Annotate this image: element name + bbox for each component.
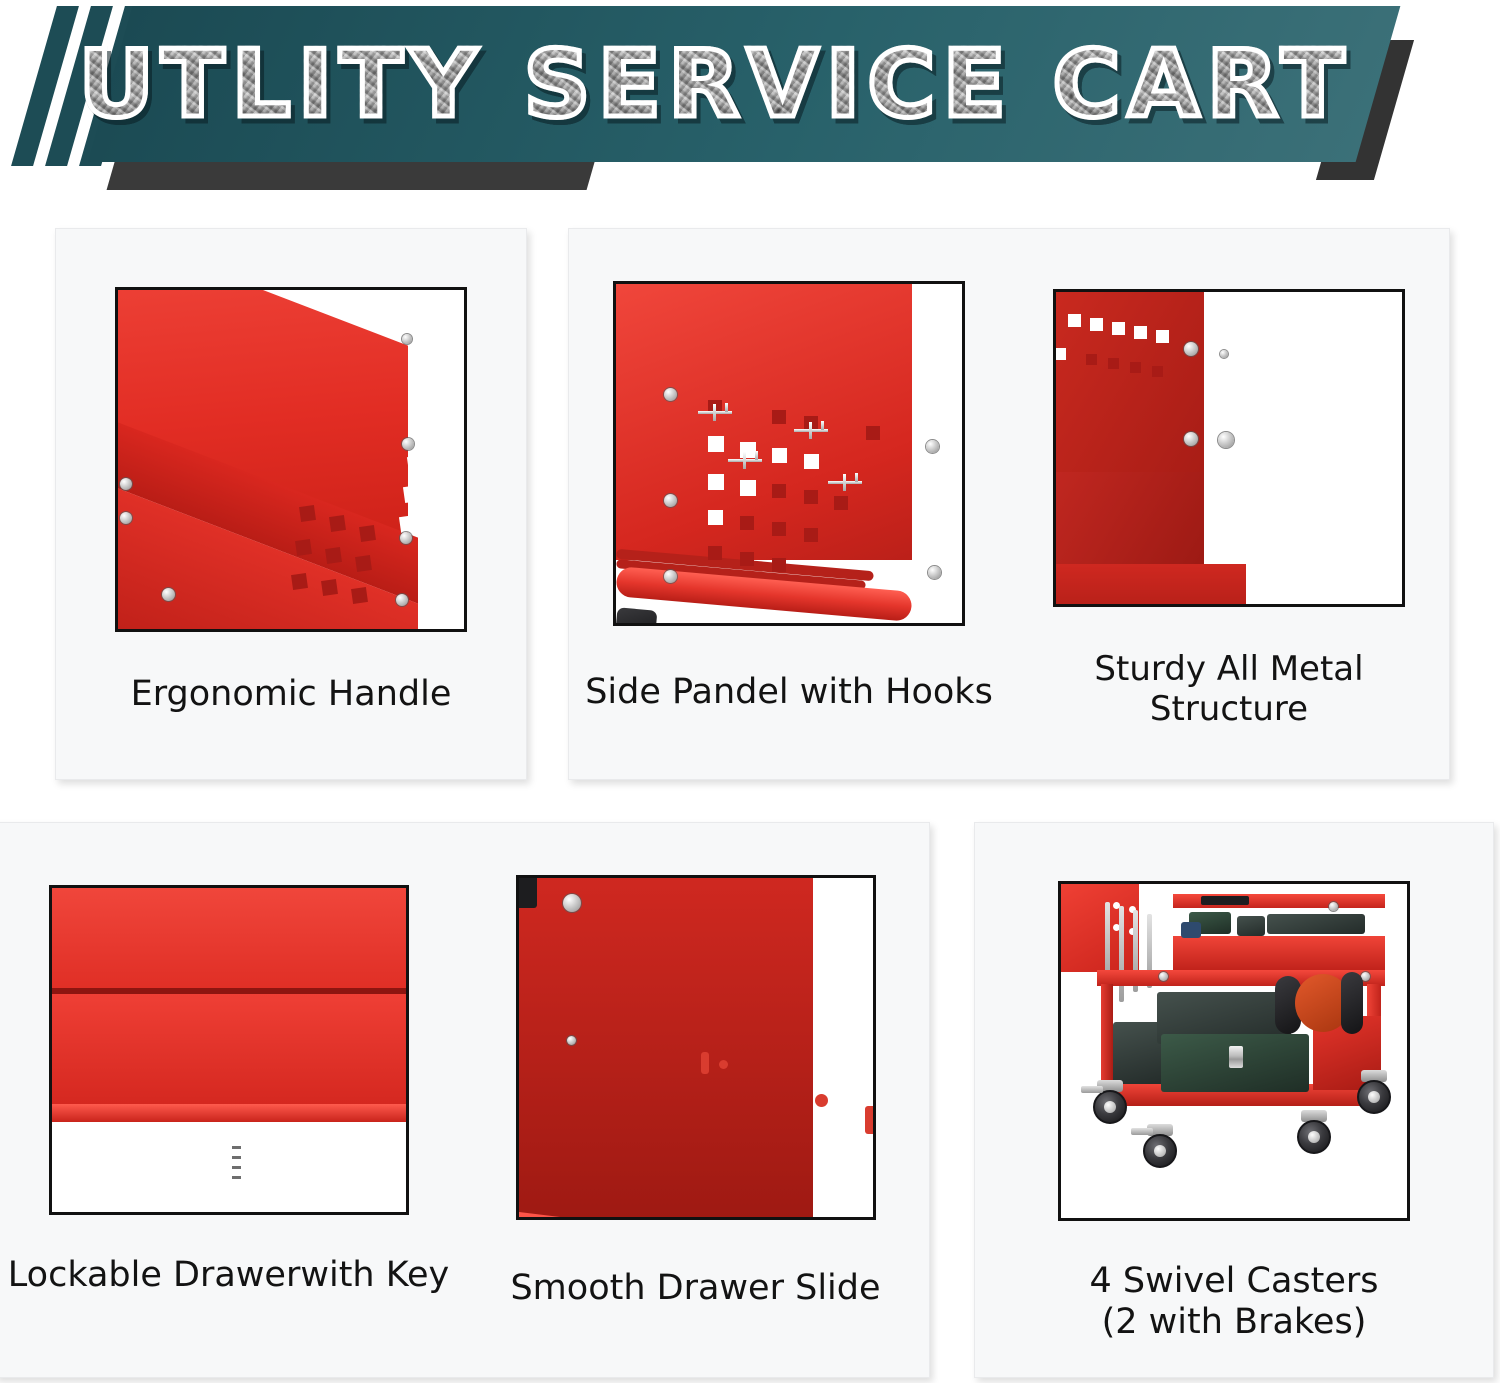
feature-caption-side-panel-hooks: Side Pandel with Hooks <box>585 672 993 713</box>
ball-bearing-drawer-slide-photo <box>516 875 876 1220</box>
feature-cell-sturdy-structure: Sturdy All Metal Structure <box>1009 229 1449 779</box>
caster-brake <box>1081 1086 1103 1093</box>
feature-caption-sturdy-structure: Sturdy All Metal Structure <box>1094 649 1363 729</box>
feature-card-ergonomic-handle: Ergonomic Handle <box>55 228 527 780</box>
pegboard-hook <box>828 472 862 492</box>
feature-cell-ergonomic-handle: Ergonomic Handle <box>56 229 526 779</box>
feature-caption-ergonomic-handle: Ergonomic Handle <box>131 674 452 715</box>
pegboard-hook <box>728 450 762 470</box>
feature-caption-lockable-drawer: Lockable Drawerwith Key <box>8 1255 449 1296</box>
cart-top-corner-with-handle-photo <box>115 287 467 632</box>
caster-brake <box>1131 1128 1153 1135</box>
feature-caption-swivel-casters: 4 Swivel Casters (2 with Brakes) <box>1089 1261 1378 1344</box>
feature-cell-lockable-drawer: Lockable Drawerwith Key <box>0 823 462 1377</box>
feature-card-swivel-casters: 4 Swivel Casters (2 with Brakes) <box>974 822 1494 1378</box>
side-pegboard-panel-with-hooks-photo <box>613 281 965 626</box>
feature-cell-side-panel-hooks: Side Pandel with Hooks <box>569 229 1009 779</box>
feature-caption-drawer-slide: Smooth Drawer Slide <box>510 1268 880 1309</box>
drawer-lock-with-keys-photo <box>49 885 409 1215</box>
hanging-wrench <box>1119 906 1124 1002</box>
feature-card-drawer-lock-and-slide: Lockable Drawerwith Key Smooth Dra <box>0 822 930 1378</box>
feature-cell-drawer-slide: Smooth Drawer Slide <box>462 823 929 1377</box>
feature-card-side-panel-and-structure: Side Pandel with Hooks <box>568 228 1450 780</box>
handle-end-cap-left <box>615 607 658 626</box>
banner-plate <box>88 6 1401 162</box>
header-banner: UTLITY SERVICE CART <box>0 0 1500 190</box>
pegboard-hook <box>698 402 732 422</box>
feature-cell-swivel-casters: 4 Swivel Casters (2 with Brakes) <box>975 823 1493 1377</box>
loaded-utility-cart-with-casters-photo <box>1058 881 1410 1221</box>
metal-frame-post-joint-photo <box>1053 289 1405 607</box>
pegboard-hook <box>794 420 828 440</box>
